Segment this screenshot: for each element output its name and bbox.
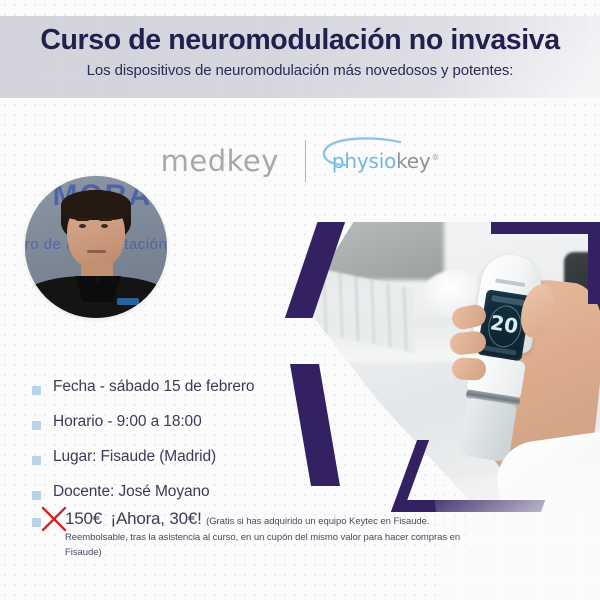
square-bullet-icon (32, 386, 41, 395)
price-line: 150€ ¡Ahora, 30€! (Gratis si has adquiri… (65, 509, 485, 529)
physiokey-prefix: physio (332, 149, 396, 173)
portrait-brow-left (76, 218, 89, 221)
info-instructor: Docente: José Moyano (53, 483, 210, 501)
new-price: ¡Ahora, 30€! (110, 509, 201, 528)
info-date: Fecha - sábado 15 de febrero (53, 378, 254, 396)
poster-root: Curso de neuromodulación no invasiva Los… (0, 0, 600, 600)
square-bullet-icon (32, 421, 41, 430)
accent-corner-top-right (491, 222, 600, 304)
portrait-eye-right (101, 224, 108, 228)
photo-finger-3 (452, 357, 487, 380)
list-item: Fecha - sábado 15 de febrero (32, 378, 332, 396)
square-bullet-icon (32, 518, 41, 527)
registered-trademark-icon: ® (432, 153, 440, 162)
info-list: Fecha - sábado 15 de febrero Horario - 9… (32, 378, 332, 518)
medkey-logo: medkey (161, 144, 279, 178)
fineprint-first-line: (Gratis si has adquirido un equipo Keyte… (206, 516, 429, 527)
portrait-brow-right (99, 218, 112, 221)
info-schedule: Horario - 9:00 a 18:00 (53, 413, 202, 431)
square-bullet-icon (32, 491, 41, 500)
info-location: Lugar: Fisaude (Madrid) (53, 448, 216, 466)
page-subtitle: Los dispositivos de neuromodulación más … (0, 62, 600, 79)
portrait-shirt-logo (117, 298, 139, 305)
page-title: Curso de neuromodulación no invasiva (0, 24, 600, 57)
fineprint-remaining: Reembolsable, tras la asistencia al curs… (65, 530, 485, 560)
portrait-mouth (87, 250, 106, 253)
list-item: Horario - 9:00 a 18:00 (32, 413, 332, 431)
price-block: 150€ ¡Ahora, 30€! (Gratis si has adquiri… (32, 509, 472, 560)
old-price: 150€ (65, 509, 102, 528)
square-bullet-icon (32, 456, 41, 465)
list-item: Docente: José Moyano (32, 483, 332, 501)
physiokey-logo: physio key ® (332, 149, 439, 173)
portrait-eye-left (79, 224, 86, 228)
portrait-hair-front (61, 190, 131, 220)
logo-divider (305, 140, 306, 182)
price-body: 150€ ¡Ahora, 30€! (Gratis si has adquiri… (65, 509, 485, 560)
instructor-portrait-photo: A MORAL ro de Rehabilitación (25, 176, 167, 318)
physiokey-suffix: key (396, 149, 430, 173)
list-item: Lugar: Fisaude (Madrid) (32, 448, 332, 466)
